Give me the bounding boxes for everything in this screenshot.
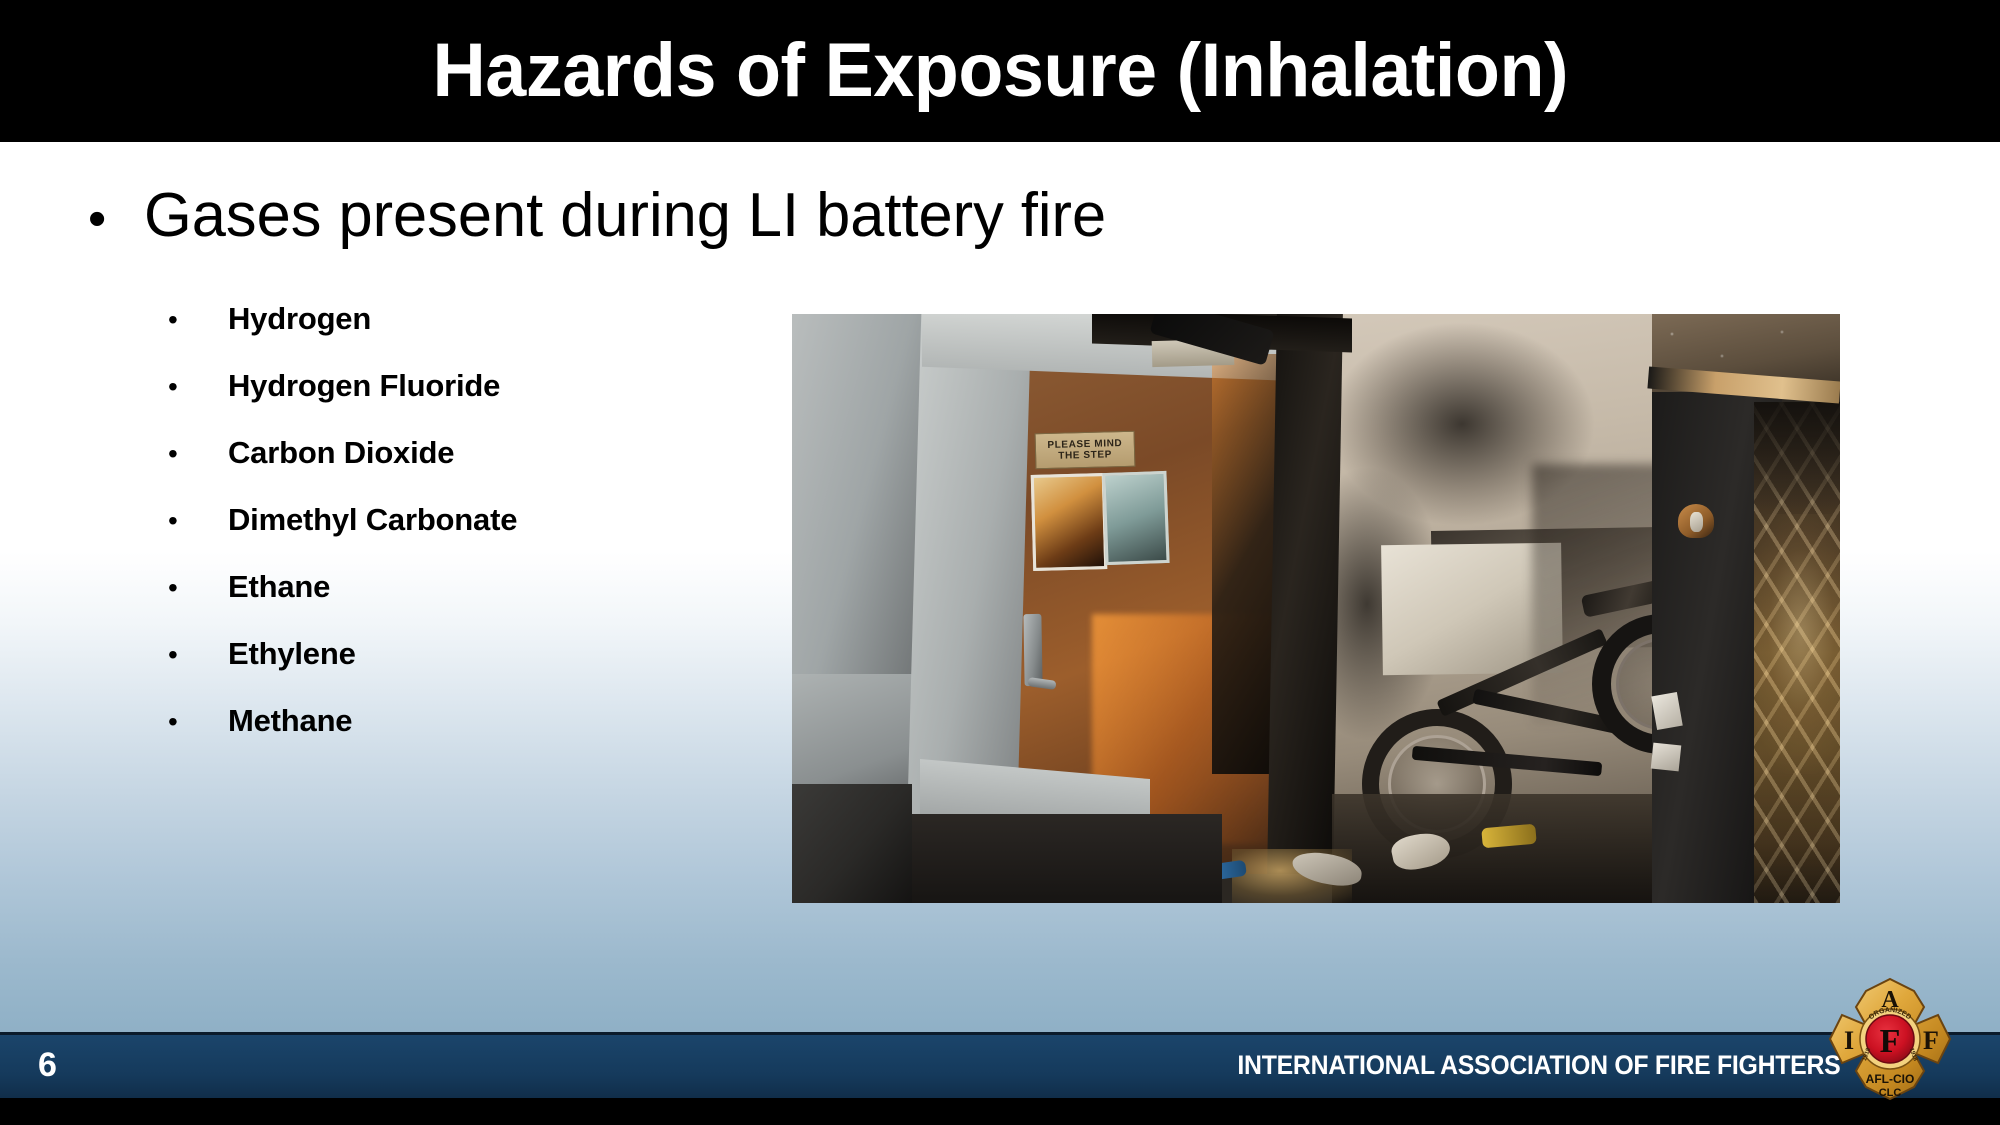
list-item-label: Dimethyl Carbonate [228,504,517,535]
list-item-label: Carbon Dioxide [228,437,454,468]
main-bullet-item: • Gases present during LI battery fire [88,185,1116,247]
photo-dark-object [792,784,912,903]
slide-title-bar: Hazards of Exposure (Inhalation) [0,0,2000,142]
photo-framed-picture-right [1102,471,1169,565]
bullet-marker-icon: • [168,373,228,401]
logo-letter-right: F [1923,1026,1939,1055]
list-item: • Ethane [168,571,517,638]
list-item: • Hydrogen [168,303,517,370]
photo-right-door-knob [1678,504,1714,538]
list-item-label: Ethylene [228,638,356,669]
photo-tufted-highlight [1754,514,1840,774]
photo-mind-the-step-sign: PLEASE MIND THE STEP [1035,431,1136,470]
list-item: • Ethylene [168,638,517,705]
list-item-label: Methane [228,705,352,736]
slide-title: Hazards of Exposure (Inhalation) [432,33,1567,109]
bullet-marker-icon: • [168,641,228,669]
gas-list: • Hydrogen • Hydrogen Fluoride • Carbon … [168,303,517,772]
bottom-black-strip [0,1098,2000,1125]
logo-letter-left: I [1844,1026,1854,1055]
bullet-marker-icon: • [88,193,144,245]
list-item-label: Hydrogen Fluoride [228,370,500,401]
list-item: • Dimethyl Carbonate [168,504,517,571]
sign-line-2: THE STEP [1058,449,1112,461]
photo-door-frame-left [907,314,1032,834]
list-item-label: Hydrogen [228,303,371,334]
photo-right-label-a [1651,692,1683,730]
photo-door-handle [1023,614,1042,686]
bullet-marker-icon: • [168,306,228,334]
list-item: • Carbon Dioxide [168,437,517,504]
photo-charred-frame [1267,314,1343,874]
main-bullet-label: Gases present during LI battery fire [144,185,1106,247]
logo-clc: CLC [1879,1087,1902,1099]
list-item: • Hydrogen Fluoride [168,370,517,437]
photo-framed-picture-left [1031,473,1107,571]
page-number: 6 [38,1048,57,1082]
list-item: • Methane [168,705,517,772]
logo-afl-cio: AFL-CIO [1866,1072,1915,1086]
photo-floor-debris [1332,794,1692,903]
bullet-marker-icon: • [168,574,228,602]
bullet-marker-icon: • [168,440,228,468]
photo-right-label-b [1651,743,1682,772]
organization-name: INTERNATIONAL ASSOCIATION OF FIRE FIGHTE… [1237,1050,1840,1080]
bullet-marker-icon: • [168,708,228,736]
logo-letter-center: F [1880,1023,1901,1060]
bullet-marker-icon: • [168,507,228,535]
iaff-logo: A I F F ORGANIZED 1918 1918 AFL-CIO CLC [1828,977,1952,1110]
photo-tufted-shadow [1754,402,1840,512]
fire-damage-photo: PLEASE MIND THE STEP [792,314,1840,903]
presentation-slide: Hazards of Exposure (Inhalation) • Gases… [0,0,2000,1125]
list-item-label: Ethane [228,571,330,602]
